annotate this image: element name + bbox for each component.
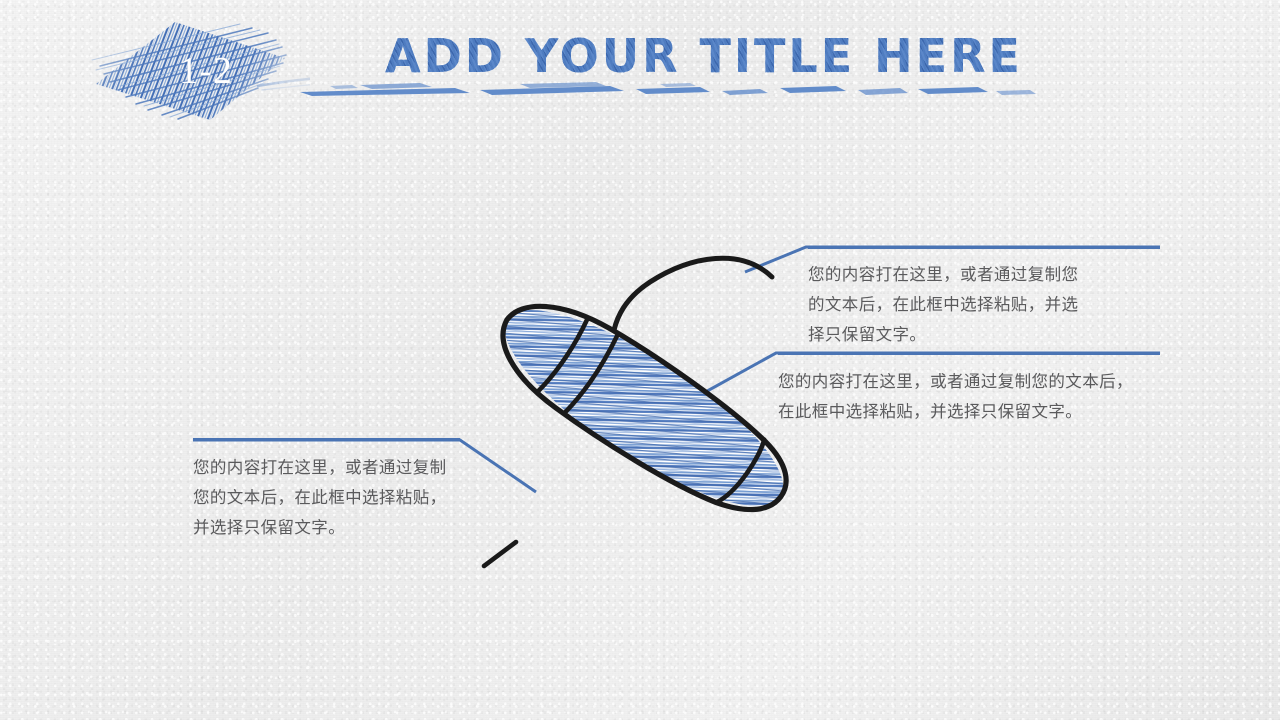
callout-text-mid-right: 您的内容打在这里，或者通过复制您的文本后，在此框中选择粘贴，并选择只保留文字。 [778,367,1148,427]
slide-canvas: 1-2 ADD YOUR TITLE HERE 您的内容打在这里，或者通过复制您… [0,0,1280,720]
pen-nib [484,542,516,566]
callout-text-left: 您的内容打在这里，或者通过复制您的文本后，在此框中选择粘贴，并选择只保留文字。 [193,453,451,543]
callout-mid-right: 您的内容打在这里，或者通过复制您的文本后，在此框中选择粘贴，并选择只保留文字。 [778,352,1158,427]
callout-rule-top-right [808,246,1160,249]
slide-number-label: 1-2 [88,16,318,126]
pen-illustration [480,258,807,566]
callout-top-right: 您的内容打在这里，或者通过复制您的文本后，在此框中选择粘贴，并选择只保留文字。 [808,246,1108,350]
callout-rule-left [193,438,460,441]
slide-number-badge: 1-2 [88,16,318,126]
page-title-text: ADD YOUR TITLE HERE [385,28,1023,84]
callout-left: 您的内容打在这里，或者通过复制您的文本后，在此框中选择粘贴，并选择只保留文字。 [193,438,463,543]
page-title: ADD YOUR TITLE HERE [300,28,1020,108]
callout-rule-mid-right [778,352,1160,355]
pen-clip [614,258,772,330]
callout-text-top-right: 您的内容打在这里，或者通过复制您的文本后，在此框中选择粘贴，并选择只保留文字。 [808,260,1093,350]
